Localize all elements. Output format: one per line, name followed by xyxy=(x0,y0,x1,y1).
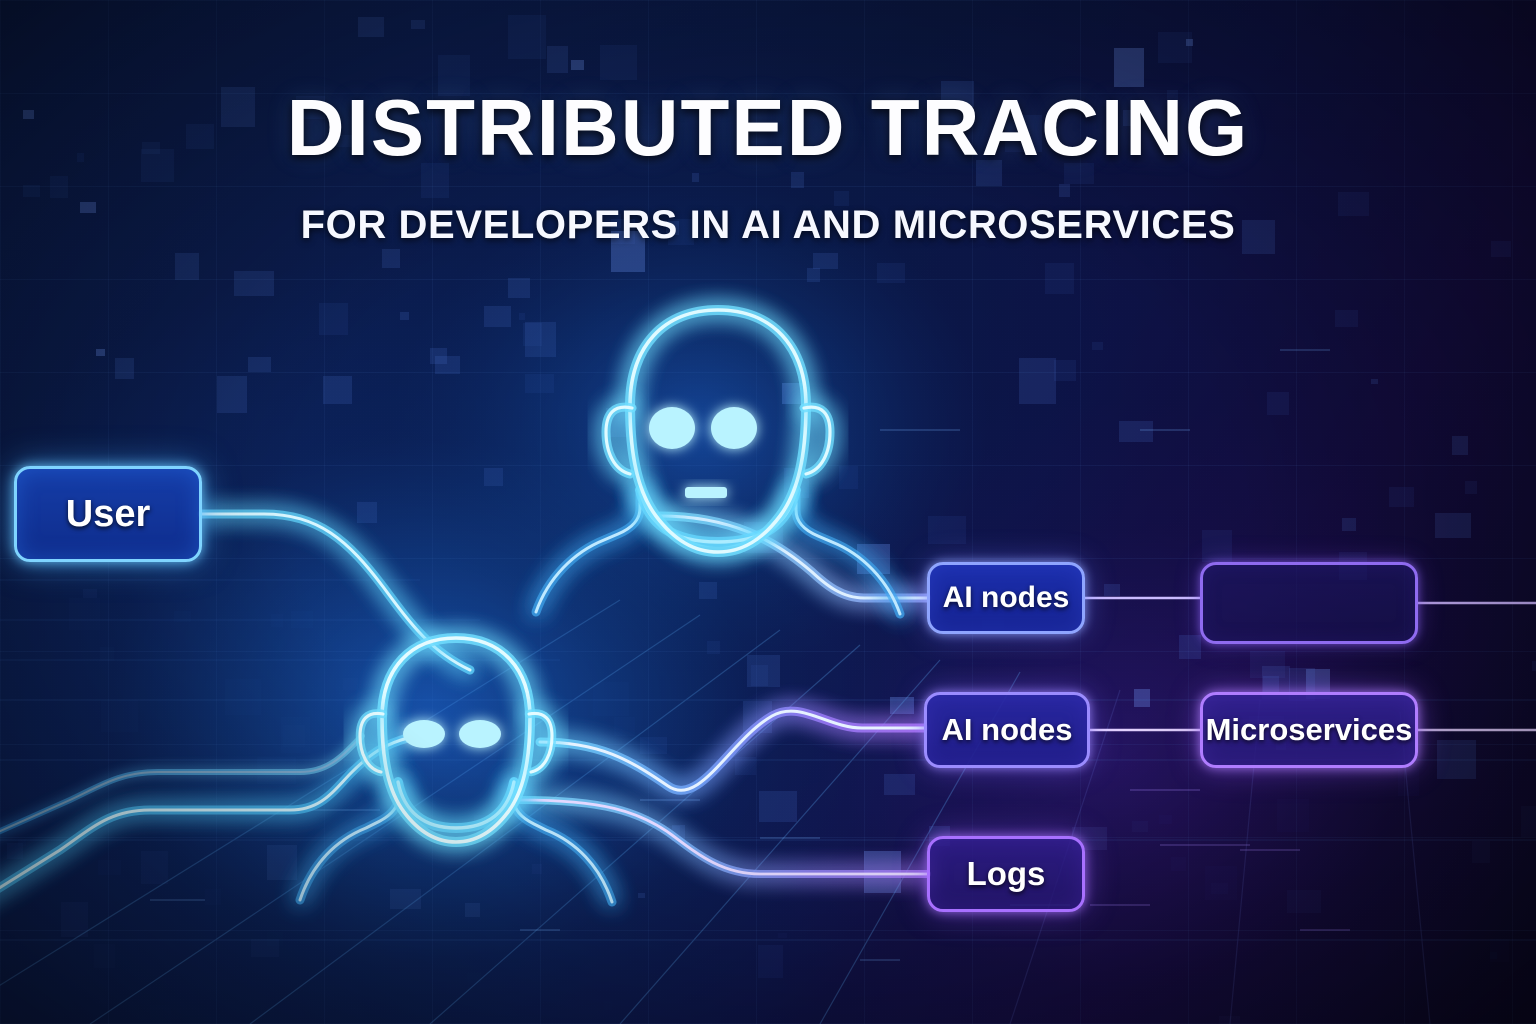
node-box-ai-nodes-1[interactable]: AI nodes xyxy=(927,562,1085,634)
node-box-unlabeled-box[interactable] xyxy=(1200,562,1418,644)
node-box-microservices[interactable]: Microservices xyxy=(1200,692,1418,768)
node-box-label: Logs xyxy=(967,855,1046,893)
eye-left xyxy=(649,407,695,449)
node-box-logs[interactable]: Logs xyxy=(927,836,1085,912)
node-box-label: Microservices xyxy=(1206,712,1413,748)
node-box-label: AI nodes xyxy=(942,712,1073,748)
background-tech-ticks-violet xyxy=(1090,790,1350,930)
eye-left xyxy=(403,720,445,748)
node-box-label: AI nodes xyxy=(943,581,1070,615)
node-box-user[interactable]: User xyxy=(14,466,202,562)
eye-right xyxy=(711,407,757,449)
eye-right xyxy=(459,720,501,748)
node-box-ai-nodes-2[interactable]: AI nodes xyxy=(924,692,1090,768)
node-box-label: User xyxy=(66,493,151,536)
poster-canvas: DISTRIBUTED TRACING FOR DEVELOPERS IN AI… xyxy=(0,0,1536,1024)
page-subtitle: FOR DEVELOPERS IN AI AND MICROSERVICES xyxy=(0,205,1536,245)
mouth xyxy=(685,487,727,498)
page-title: DISTRIBUTED TRACING xyxy=(0,88,1536,168)
